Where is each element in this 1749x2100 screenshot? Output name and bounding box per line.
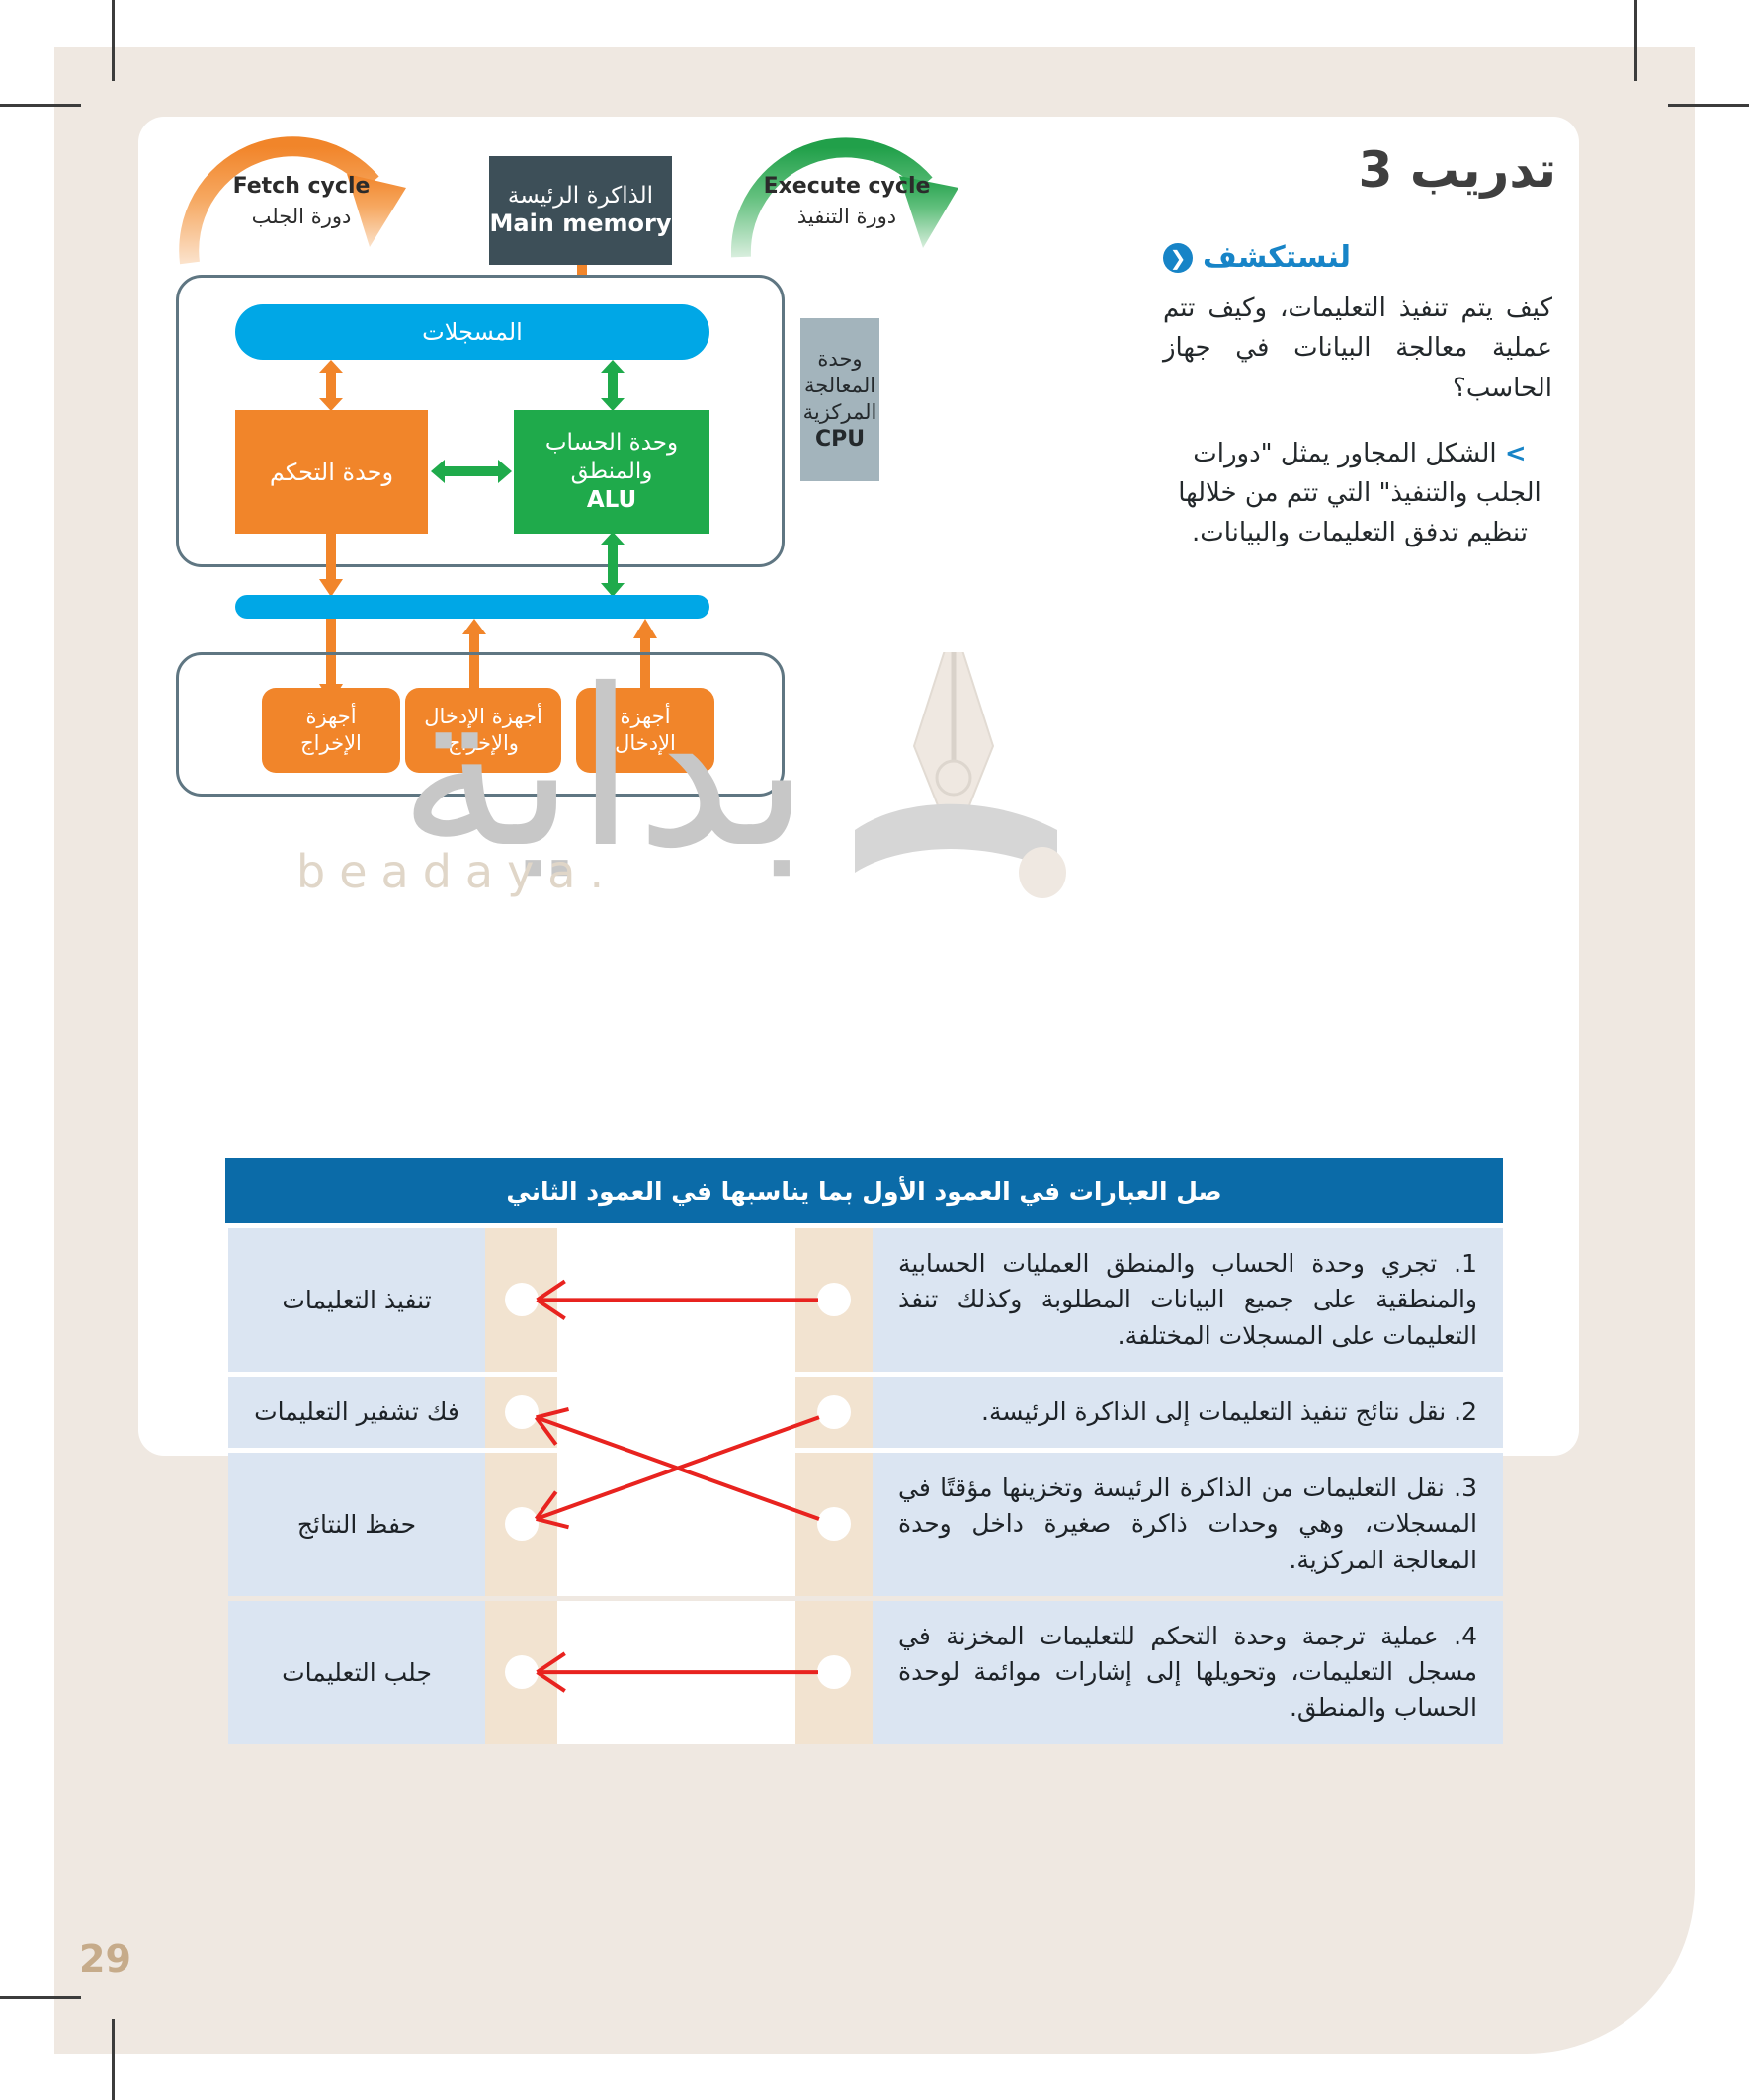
connector-dot[interactable] [817,1507,851,1541]
table-row: 2. نقل نتائج تنفيذ التعليمات إلى الذاكرة… [225,1377,1503,1448]
connector-gap [557,1601,795,1744]
alu-box: وحدة الحساب والمنطق ALU [514,410,709,534]
left-connector-cell[interactable] [485,1601,557,1744]
left-connector-cell[interactable] [485,1453,557,1596]
crop-mark-top-right-h [1668,104,1749,107]
output-devices-box: أجهزةالإخراج [262,688,400,773]
explore-heading: ❮ لنستكشف [1141,240,1556,275]
connector-dot[interactable] [817,1395,851,1429]
term-cell: حفظ النتائج [228,1453,485,1596]
main-memory-label-en: Main memory [489,210,671,238]
statement-cell: 4. عملية ترجمة وحدة التحكم للتعليمات الم… [873,1601,1503,1744]
cpu-side-label: وحدة المعالجة المركزية CPU [800,318,879,481]
registers-box: المسجلات [235,304,709,360]
input-devices-box: أجهزةالإدخال [576,688,714,773]
right-connector-cell[interactable] [795,1453,873,1596]
explore-label: لنستكشف [1203,240,1351,275]
matching-exercise: صل العبارات في العمود الأول بما يناسبها … [225,1158,1503,1744]
connector-gap [557,1228,795,1372]
term-cell: فك تشفير التعليمات [228,1377,485,1448]
control-unit-to-bus-arrow-icon [316,532,346,597]
main-memory-box: الذاكرة الرئيسة Main memory [489,156,672,265]
left-connector-cell[interactable] [485,1377,557,1448]
connector-dot[interactable] [505,1283,539,1316]
crop-mark-bottom-left-v [112,2019,115,2100]
figure-note: > الشكل المجاور يمثل "دورات الجلب والتنف… [1141,434,1556,553]
statement-cell: 2. نقل نتائج تنفيذ التعليمات إلى الذاكرة… [873,1377,1503,1448]
statement-cell: 1. تجري وحدة الحساب والمنطق العمليات الح… [873,1228,1503,1372]
right-connector-cell[interactable] [795,1228,873,1372]
execute-cycle-label: Execute cycle دورة التنفيذ [753,174,941,228]
registers-control-double-arrow-icon [316,360,346,411]
page-title: تدريب 3 [1141,124,1556,199]
connector-dot[interactable] [505,1395,539,1429]
crop-mark-bottom-left-h [0,1996,81,1999]
bullet-marker-icon: > [1505,439,1527,468]
system-bus [235,595,709,619]
explore-question: كيف يتم تنفيذ التعليمات، وكيف تتم عملية … [1141,289,1556,408]
statement-cell: 3. نقل التعليمات من الذاكرة الرئيسة وتخز… [873,1453,1503,1596]
connector-dot[interactable] [505,1655,539,1689]
term-cell: جلب التعليمات [228,1601,485,1744]
matching-header: صل العبارات في العمود الأول بما يناسبها … [225,1158,1503,1223]
lesson-intro-panel: تدريب 3 ❮ لنستكشف كيف يتم تنفيذ التعليما… [1141,124,1556,553]
main-memory-label-ar: الذاكرة الرئيسة [508,183,653,210]
connector-dot[interactable] [817,1655,851,1689]
right-connector-cell[interactable] [795,1377,873,1448]
fetch-cycle-label: Fetch cycle دورة الجلب [208,174,395,228]
connector-gap [557,1377,795,1448]
io-devices-box: أجهزة الإدخالوالإخراج [405,688,561,773]
table-row: 1. تجري وحدة الحساب والمنطق العمليات الح… [225,1228,1503,1372]
right-connector-cell[interactable] [795,1601,873,1744]
page-number: 29 [79,1937,131,1980]
connector-gap [557,1453,795,1596]
alu-to-bus-double-arrow-icon [598,532,627,597]
table-row: 3. نقل التعليمات من الذاكرة الرئيسة وتخز… [225,1453,1503,1596]
crop-mark-top-left-h [0,104,81,107]
registers-alu-double-arrow-icon [598,360,627,411]
figure-note-text: الشكل المجاور يمثل "دورات الجلب والتنفيذ… [1178,439,1541,548]
control-unit-box: وحدة التحكم [235,410,428,534]
cpu-fetch-execute-diagram: Fetch cycle دورة الجلب Execute cycle دور… [148,128,1156,1117]
crop-mark-top-left-v [112,0,115,81]
control-alu-double-arrow-icon [431,457,512,486]
left-connector-cell[interactable] [485,1228,557,1372]
crop-mark-top-right-v [1634,0,1637,81]
connector-dot[interactable] [817,1283,851,1316]
chevron-left-icon: ❮ [1163,243,1193,273]
connector-dot[interactable] [505,1507,539,1541]
term-cell: تنفيذ التعليمات [228,1228,485,1372]
table-row: 4. عملية ترجمة وحدة التحكم للتعليمات الم… [225,1601,1503,1744]
